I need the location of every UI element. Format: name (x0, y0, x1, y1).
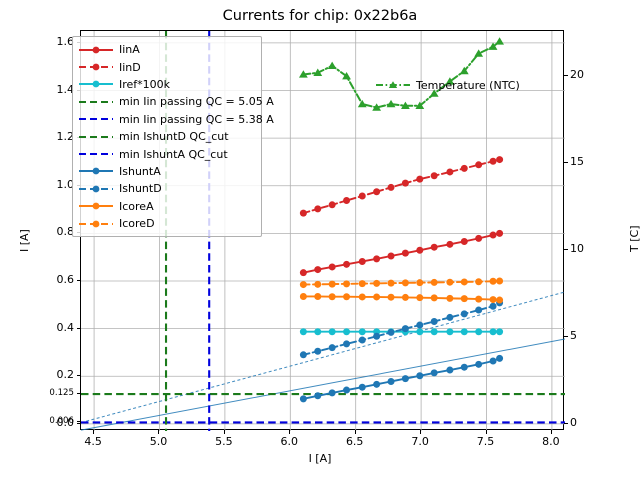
legend-label: IinD (119, 61, 141, 74)
data-point (416, 247, 423, 254)
data-point (373, 188, 380, 195)
legend-marker (93, 220, 100, 227)
y-tick-label-left: 0.2 (12, 368, 74, 381)
data-point (446, 314, 453, 321)
y-tick-label-left: 1.0 (12, 178, 74, 191)
legend-label: IshuntD (119, 182, 162, 195)
legend-label: min Iin passing QC = 5.38 A (119, 113, 274, 126)
legend-label: IcoreA (119, 200, 154, 213)
data-point (300, 351, 307, 358)
x-tick-label: 4.5 (63, 435, 123, 448)
data-point (329, 281, 336, 288)
data-point (300, 293, 307, 300)
data-point (343, 328, 350, 335)
y-tick-mark-left (77, 393, 81, 394)
y-axis-label-right: T [C] (628, 226, 640, 252)
x-tick-label: 6.0 (259, 435, 319, 448)
data-point (343, 293, 350, 300)
data-point (416, 328, 423, 335)
data-point (416, 322, 423, 329)
y-tick-label-left: 0.006 (12, 416, 74, 426)
data-point (490, 296, 497, 303)
data-point (496, 355, 503, 362)
legend-temperature: Temperature (NTC) (375, 78, 520, 92)
y-tick-label-left: 0.6 (12, 273, 74, 286)
data-point (329, 263, 336, 270)
legend-marker (93, 46, 100, 53)
data-point (402, 250, 409, 257)
x-tick-label: 5.0 (128, 435, 188, 448)
legend-swatch (78, 217, 114, 231)
data-point (300, 269, 307, 276)
data-point (416, 372, 423, 379)
data-point (359, 280, 366, 287)
data-point (343, 340, 350, 347)
data-point (359, 337, 366, 344)
data-point (416, 176, 423, 183)
data-point (300, 395, 307, 402)
x-tick-mark (355, 430, 356, 434)
data-point (388, 253, 395, 260)
y-tick-mark-right (564, 75, 568, 76)
data-point (314, 205, 321, 212)
y-tick-label-left: 0.125 (12, 388, 74, 398)
y-tick-mark-right (564, 423, 568, 424)
x-tick-label: 7.5 (456, 435, 516, 448)
data-point (343, 197, 350, 204)
data-point (359, 193, 366, 200)
legend-marker (93, 168, 100, 175)
data-point (475, 278, 482, 285)
trendline (81, 292, 565, 423)
data-point (358, 100, 367, 107)
data-point (402, 279, 409, 286)
legend-label: min IshuntA QC_cut (119, 148, 228, 161)
data-point (475, 235, 482, 242)
x-tick-mark (420, 430, 421, 434)
y-tick-mark-right (564, 336, 568, 337)
data-point (446, 328, 453, 335)
legend: IinAIinDIref*100kmin Iin passing QC = 5.… (72, 36, 262, 237)
data-point (495, 37, 504, 44)
data-point (461, 364, 468, 371)
data-point (402, 294, 409, 301)
data-point (359, 258, 366, 265)
legend-swatch (78, 147, 114, 161)
data-point (431, 318, 438, 325)
legend-swatch (78, 77, 114, 91)
legend-label: min Iin passing QC = 5.05 A (119, 95, 274, 108)
series-line (303, 41, 499, 107)
data-point (461, 165, 468, 172)
legend-item: min Iin passing QC = 5.38 A (78, 111, 256, 128)
y-tick-label-left: 1.2 (12, 130, 74, 143)
data-point (388, 294, 395, 301)
data-point (446, 295, 453, 302)
data-point (329, 201, 336, 208)
legend-label: IcoreD (119, 217, 155, 230)
legend-swatch (78, 164, 114, 178)
data-point (490, 232, 497, 239)
data-point (373, 333, 380, 340)
x-tick-mark (289, 430, 290, 434)
data-point (329, 389, 336, 396)
data-point (416, 279, 423, 286)
data-point (496, 230, 503, 237)
x-axis-label: I [A] (0, 452, 640, 465)
data-point (431, 279, 438, 286)
legend-label: Iref*100k (119, 78, 170, 91)
data-point (373, 280, 380, 287)
legend-marker (93, 64, 100, 71)
legend-item: min Iin passing QC = 5.05 A (78, 93, 256, 110)
data-point (343, 280, 350, 287)
legend-item: IinD (78, 58, 256, 75)
data-point (416, 294, 423, 301)
data-point (314, 348, 321, 355)
y-tick-mark-left (77, 423, 81, 424)
data-point (359, 328, 366, 335)
figure: Currents for chip: 0x22b6a I [A] T [C] I… (0, 0, 640, 480)
data-point (475, 328, 482, 335)
chart-title: Currents for chip: 0x22b6a (0, 8, 640, 24)
data-point (461, 310, 468, 317)
y-tick-mark-left (77, 375, 81, 376)
legend-label-temperature: Temperature (NTC) (416, 79, 520, 92)
data-point (328, 62, 337, 69)
data-point (461, 328, 468, 335)
data-point (300, 328, 307, 335)
data-point (359, 384, 366, 391)
y-tick-label-right: 0 (570, 416, 577, 429)
legend-swatch (78, 130, 114, 144)
legend-marker (93, 185, 100, 192)
y-tick-mark-left (77, 280, 81, 281)
y-tick-label-right: 5 (570, 329, 577, 342)
data-point (490, 358, 497, 365)
legend-item: Iref*100k (78, 76, 256, 93)
x-tick-mark (224, 430, 225, 434)
data-point (496, 328, 503, 335)
legend-swatch (78, 112, 114, 126)
y-tick-label-right: 15 (570, 155, 584, 168)
data-point (300, 210, 307, 217)
y-tick-label-left: 0.8 (12, 225, 74, 238)
data-point (461, 278, 468, 285)
data-point (431, 172, 438, 179)
data-point (402, 325, 409, 332)
y-tick-mark-left (77, 328, 81, 329)
data-point (446, 367, 453, 374)
legend-item: IshuntA (78, 163, 256, 180)
legend-marker (93, 81, 100, 88)
legend-swatch (78, 182, 114, 196)
data-point (431, 369, 438, 376)
data-point (373, 255, 380, 262)
data-point (329, 293, 336, 300)
data-point (461, 238, 468, 245)
data-point (475, 296, 482, 303)
x-tick-mark (93, 430, 94, 434)
legend-item: IcoreA (78, 198, 256, 215)
x-tick-mark (158, 430, 159, 434)
y-tick-mark-right (564, 162, 568, 163)
legend-swatch (78, 60, 114, 74)
legend-item: min IshuntA QC_cut (78, 145, 256, 162)
y-tick-label-right: 20 (570, 68, 584, 81)
data-point (431, 294, 438, 301)
x-tick-label: 6.5 (325, 435, 385, 448)
y-tick-label-left: 0.4 (12, 321, 74, 334)
data-point (431, 244, 438, 251)
data-point (496, 156, 503, 163)
data-point (402, 180, 409, 187)
y-tick-label-right: 10 (570, 242, 584, 255)
legend-label: min IshuntD QC_cut (119, 130, 229, 143)
data-point (388, 329, 395, 336)
legend-label: IinA (119, 43, 140, 56)
data-point (314, 328, 321, 335)
legend-label: IshuntA (119, 165, 161, 178)
legend-item: IinA (78, 41, 256, 58)
legend-item: IshuntD (78, 180, 256, 197)
x-tick-mark (486, 430, 487, 434)
x-tick-label: 7.0 (390, 435, 450, 448)
legend-swatch (78, 43, 114, 57)
data-point (446, 279, 453, 286)
data-point (475, 161, 482, 168)
data-point (446, 241, 453, 248)
y-tick-mark-right (564, 249, 568, 250)
data-point (490, 303, 497, 310)
data-point (475, 307, 482, 314)
x-tick-label: 8.0 (521, 435, 581, 448)
legend-swatch (78, 95, 114, 109)
x-tick-mark (551, 430, 552, 434)
data-point (490, 278, 497, 285)
data-point (343, 261, 350, 268)
data-point (329, 344, 336, 351)
data-point (490, 158, 497, 165)
trendline (81, 339, 565, 430)
data-point (314, 293, 321, 300)
y-tick-mark-left (77, 421, 81, 422)
data-point (343, 387, 350, 394)
data-point (490, 328, 497, 335)
data-point (388, 378, 395, 385)
x-tick-label: 5.5 (194, 435, 254, 448)
data-point (496, 297, 503, 304)
data-point (431, 328, 438, 335)
data-point (373, 293, 380, 300)
data-point (314, 392, 321, 399)
data-point (475, 361, 482, 368)
data-point (314, 266, 321, 273)
data-point (329, 328, 336, 335)
legend-line-temperature (375, 78, 411, 92)
data-point (388, 280, 395, 287)
legend-swatch (78, 199, 114, 213)
data-point (373, 381, 380, 388)
data-point (496, 278, 503, 285)
data-point (359, 293, 366, 300)
data-point (388, 184, 395, 191)
data-point (461, 295, 468, 302)
y-tick-label-left: 1.4 (12, 83, 74, 96)
data-point (446, 168, 453, 175)
legend-item: IcoreD (78, 215, 256, 232)
data-point (402, 375, 409, 382)
data-point (314, 281, 321, 288)
y-tick-label-left: 1.6 (12, 35, 74, 48)
legend-item: min IshuntD QC_cut (78, 128, 256, 145)
data-point (300, 281, 307, 288)
legend-marker (93, 203, 100, 210)
